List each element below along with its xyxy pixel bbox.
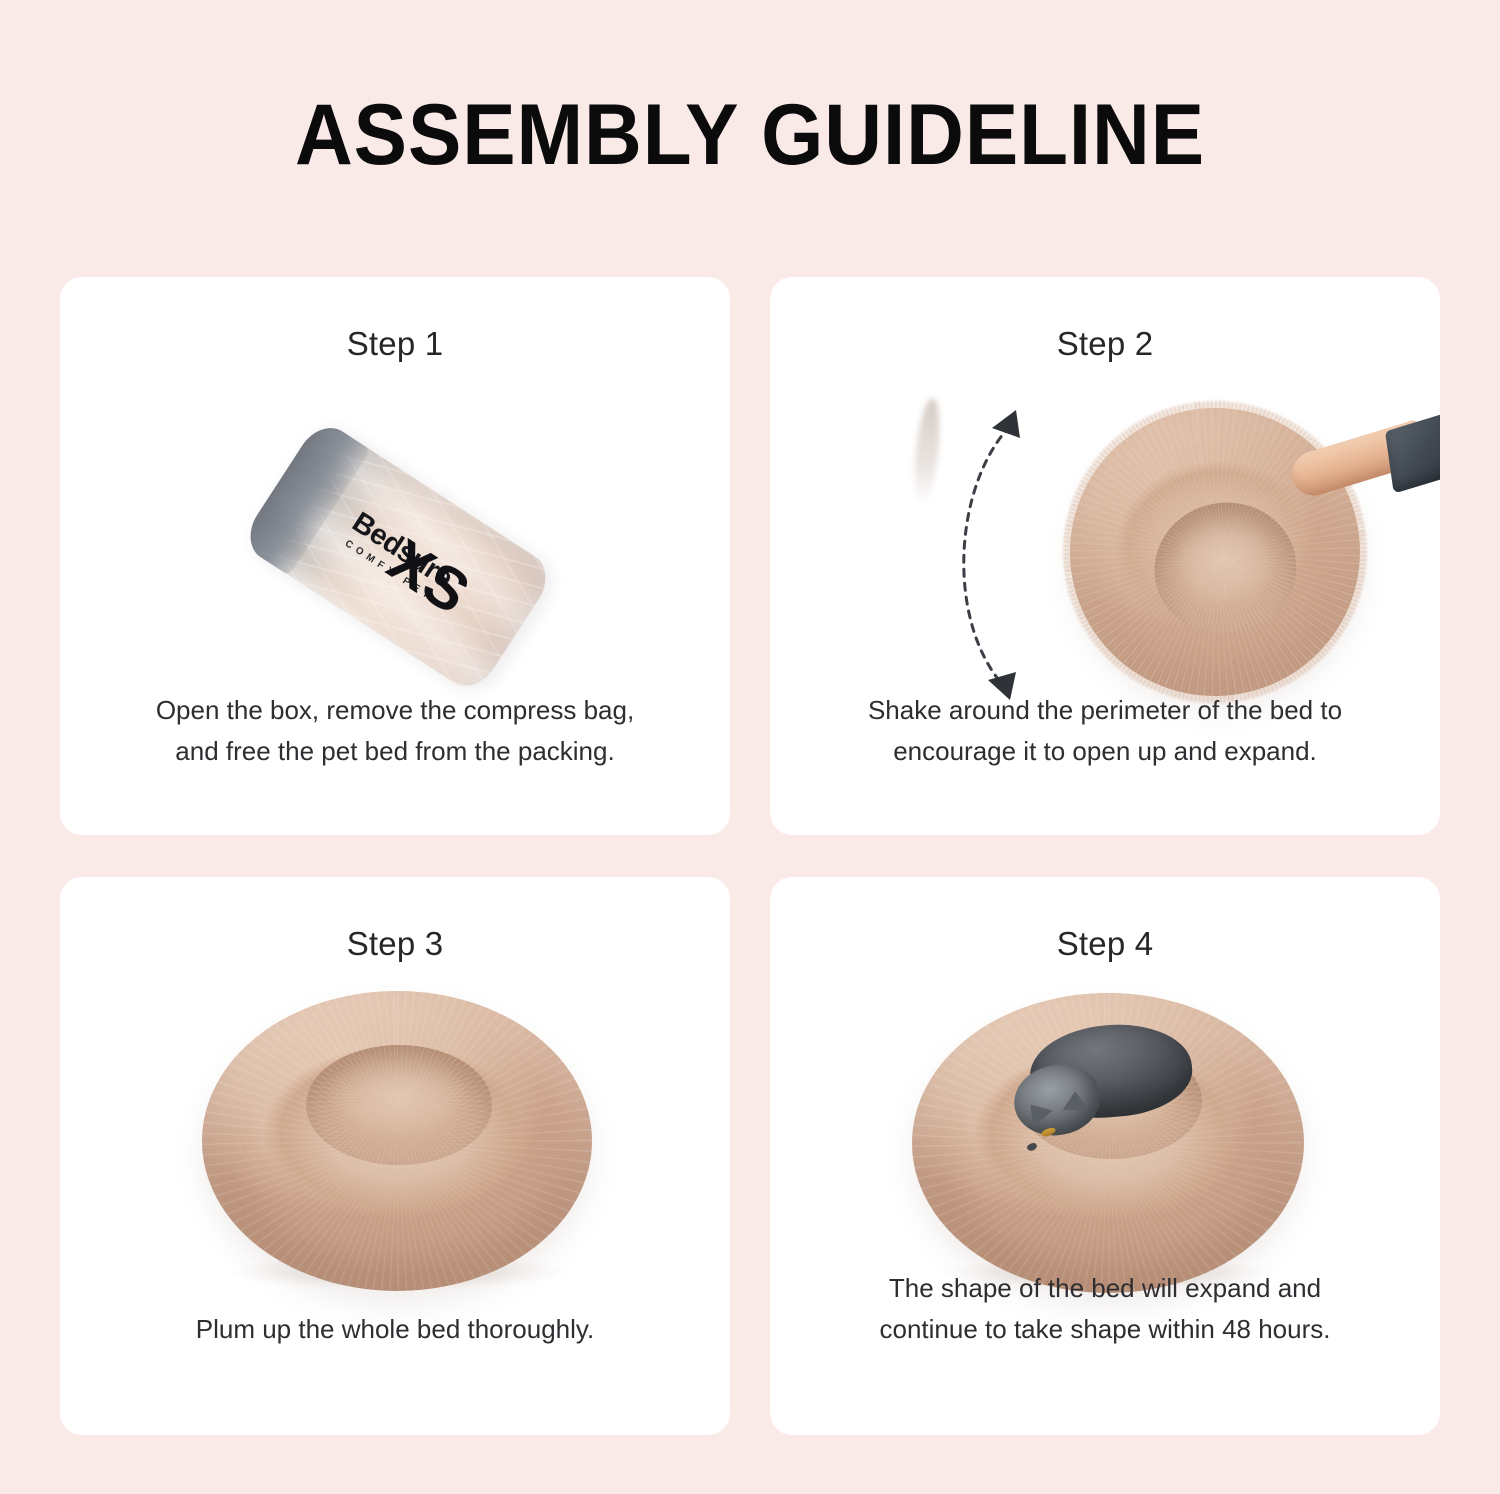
step-2-title: Step 2 [770,325,1440,363]
step-4-title: Step 4 [770,925,1440,963]
cat-ear-right [1062,1091,1088,1110]
step-card-3: Step 3 Plum up the whole bed thoroughly. [60,877,730,1435]
step-3-caption-line-1: Plum up the whole bed thoroughly. [196,1314,594,1344]
compressed-package-icon: Bedsure COMFY PET XS [239,417,557,696]
pet-bed-expanded [202,991,592,1291]
cat-icon [1014,1025,1194,1137]
step-card-4: Step 4 The shape of the bed will expand … [770,877,1440,1435]
step-1-illustration: Bedsure COMFY PET XS [60,382,730,732]
pet-bed-shaking [1051,389,1378,715]
cat-eye [1040,1126,1057,1138]
step-4-caption-line-2: continue to take shape within 48 hours. [880,1314,1331,1344]
step-1-caption-line-1: Open the box, remove the compress bag, [156,695,634,725]
step-card-1: Step 1 Bedsure COMFY PET XS Open the box… [60,277,730,835]
step-2-illustration [770,382,1440,732]
pet-bed-inner-well [306,1045,492,1165]
step-1-caption-line-2: and free the pet bed from the packing. [175,736,614,766]
page-title: ASSEMBLY GUIDELINE [53,92,1448,178]
step-3-title: Step 3 [60,925,730,963]
steps-grid: Step 1 Bedsure COMFY PET XS Open the box… [60,277,1440,1435]
step-3-caption: Plum up the whole bed thoroughly. [60,1309,730,1349]
step-2-caption-line-1: Shake around the perimeter of the bed to [868,695,1342,725]
step-1-caption: Open the box, remove the compress bag, a… [60,690,730,771]
step-1-title: Step 1 [60,325,730,363]
step-2-caption: Shake around the perimeter of the bed to… [770,690,1440,771]
step-card-2: Step 2 Shake around the perimeter of the… [770,277,1440,835]
sleeve-cuff [1385,412,1440,493]
curved-double-arrow-icon [928,390,1058,720]
cat-ear-left [1021,1096,1053,1127]
step-4-caption: The shape of the bed will expand and con… [770,1268,1440,1349]
step-3-illustration [60,969,730,1329]
step-2-caption-line-2: encourage it to open up and expand. [893,736,1317,766]
step-4-caption-line-1: The shape of the bed will expand and [889,1273,1321,1303]
pet-bed-inner-well [1146,493,1305,643]
